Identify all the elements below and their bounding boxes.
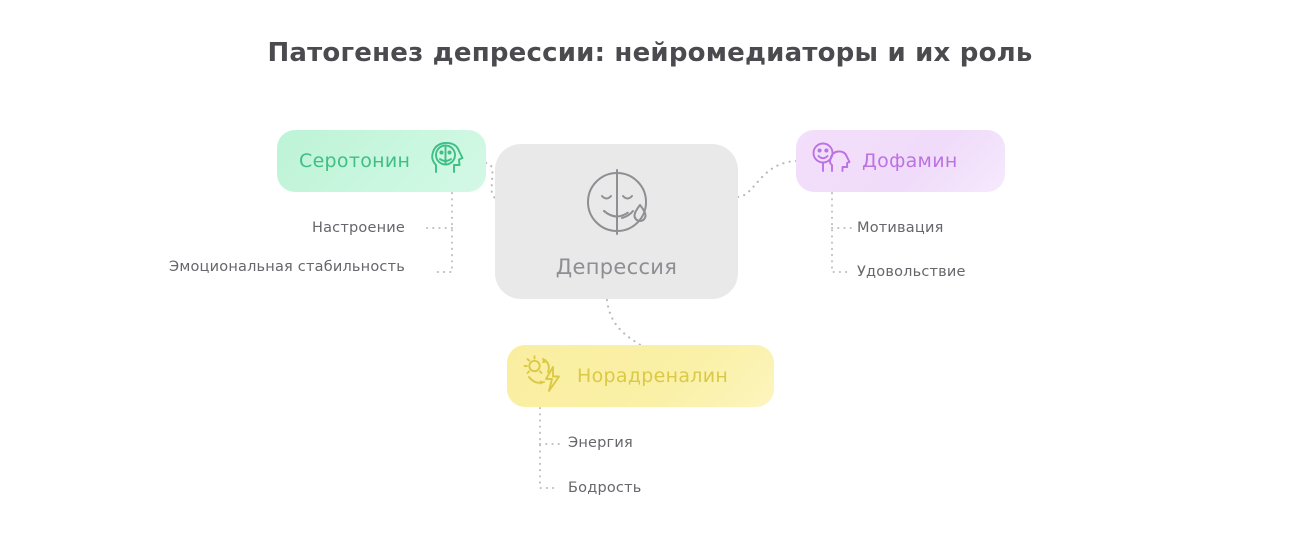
split-face-sad-happy-icon	[580, 165, 654, 243]
connector-center-to-noradrenaline	[607, 300, 642, 346]
head-with-face-icon	[428, 139, 468, 183]
node-depression[interactable]: Депрессия	[495, 144, 738, 299]
sub-label-dopamine-1: Удовольствие	[857, 264, 966, 280]
head-smiley-icon	[810, 139, 852, 183]
node-dopamine[interactable]: Дофамин	[796, 130, 1005, 192]
node-serotonin[interactable]: Серотонин	[277, 130, 486, 192]
connector-noradrenaline-spine	[540, 408, 558, 488]
node-depression-label: Депрессия	[556, 255, 677, 279]
sun-lightning-energy-icon	[521, 353, 567, 399]
node-serotonin-label: Серотонин	[299, 150, 410, 172]
sub-label-noradrenaline-1: Бодрость	[568, 480, 641, 496]
node-noradrenaline-label: Норадреналин	[577, 365, 728, 387]
node-noradrenaline[interactable]: Норадреналин	[507, 345, 774, 407]
node-dopamine-label: Дофамин	[862, 150, 958, 172]
sub-label-noradrenaline-0: Энергия	[568, 435, 633, 451]
page-title: Патогенез депрессии: нейромедиаторы и их…	[0, 38, 1300, 68]
connector-serotonin-spine	[434, 193, 452, 272]
sub-label-serotonin-0: Настроение	[0, 220, 405, 236]
sub-label-dopamine-0: Мотивация	[857, 220, 944, 236]
connector-dopamine-spine	[832, 193, 848, 272]
diagram-canvas: Патогенез депрессии: нейромедиаторы и их…	[0, 0, 1300, 546]
sub-label-serotonin-1: Эмоциональная стабильность	[0, 259, 405, 275]
connector-center-to-dopamine	[738, 161, 796, 197]
